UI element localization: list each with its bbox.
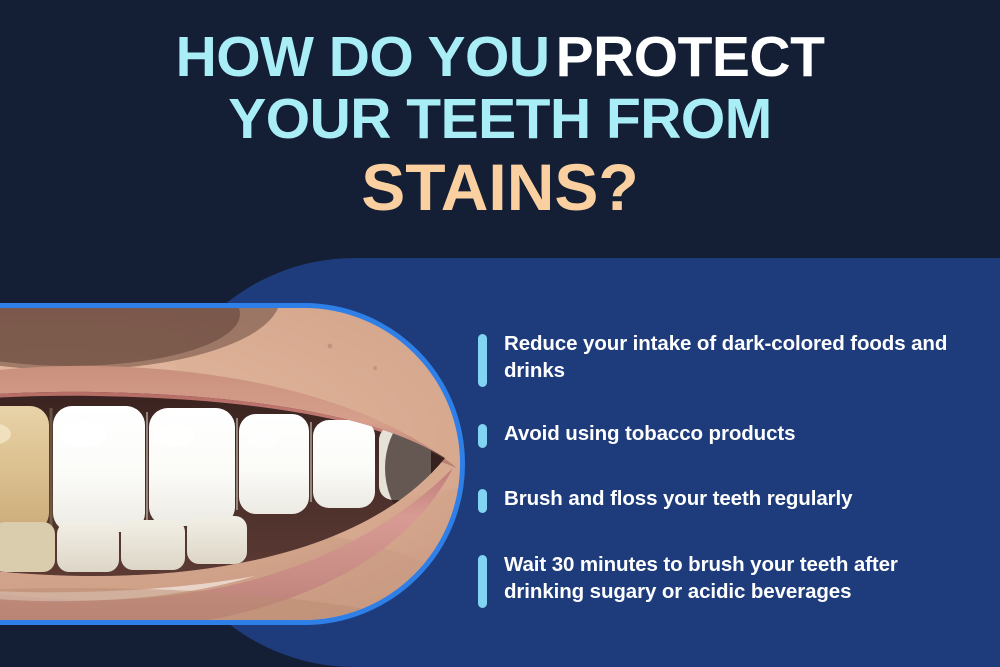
tip-item-2: Avoid using tobacco products [478,420,956,448]
bullet-marker-icon [478,334,487,387]
teeth-photo-illustration [0,308,460,620]
tip-item-4: Wait 30 minutes to brush your teeth afte… [478,551,956,608]
spacer-2 [478,471,956,485]
spacer-3 [478,536,956,551]
bullet-marker-icon [478,424,487,448]
tip-text-4: Wait 30 minutes to brush your teeth afte… [504,551,956,605]
tips-list: Reduce your intake of dark-colored foods… [478,330,956,608]
title-line-3-stains: STAINS? [0,154,1000,221]
spacer-1 [478,410,956,420]
tip-item-3: Brush and floss your teeth regularly [478,485,956,513]
poster-root: HOW DO YOUPROTECT YOUR TEETH FROM STAINS… [0,0,1000,667]
title-block: HOW DO YOUPROTECT YOUR TEETH FROM STAINS… [0,28,1000,222]
title-line-2: YOUR TEETH FROM [0,90,1000,148]
teeth-photo-card [0,303,465,625]
tip-text-2: Avoid using tobacco products [504,420,795,447]
title-part-protect: PROTECT [556,25,825,89]
bullet-marker-icon [478,555,487,608]
bullet-marker-icon [478,489,487,513]
tip-text-1: Reduce your intake of dark-colored foods… [504,330,956,384]
title-line-1: HOW DO YOUPROTECT [0,28,1000,86]
tip-text-3: Brush and floss your teeth regularly [504,485,852,512]
tip-item-1: Reduce your intake of dark-colored foods… [478,330,956,387]
title-part-how-do-you: HOW DO YOU [176,25,550,89]
teeth-photo [0,308,460,620]
